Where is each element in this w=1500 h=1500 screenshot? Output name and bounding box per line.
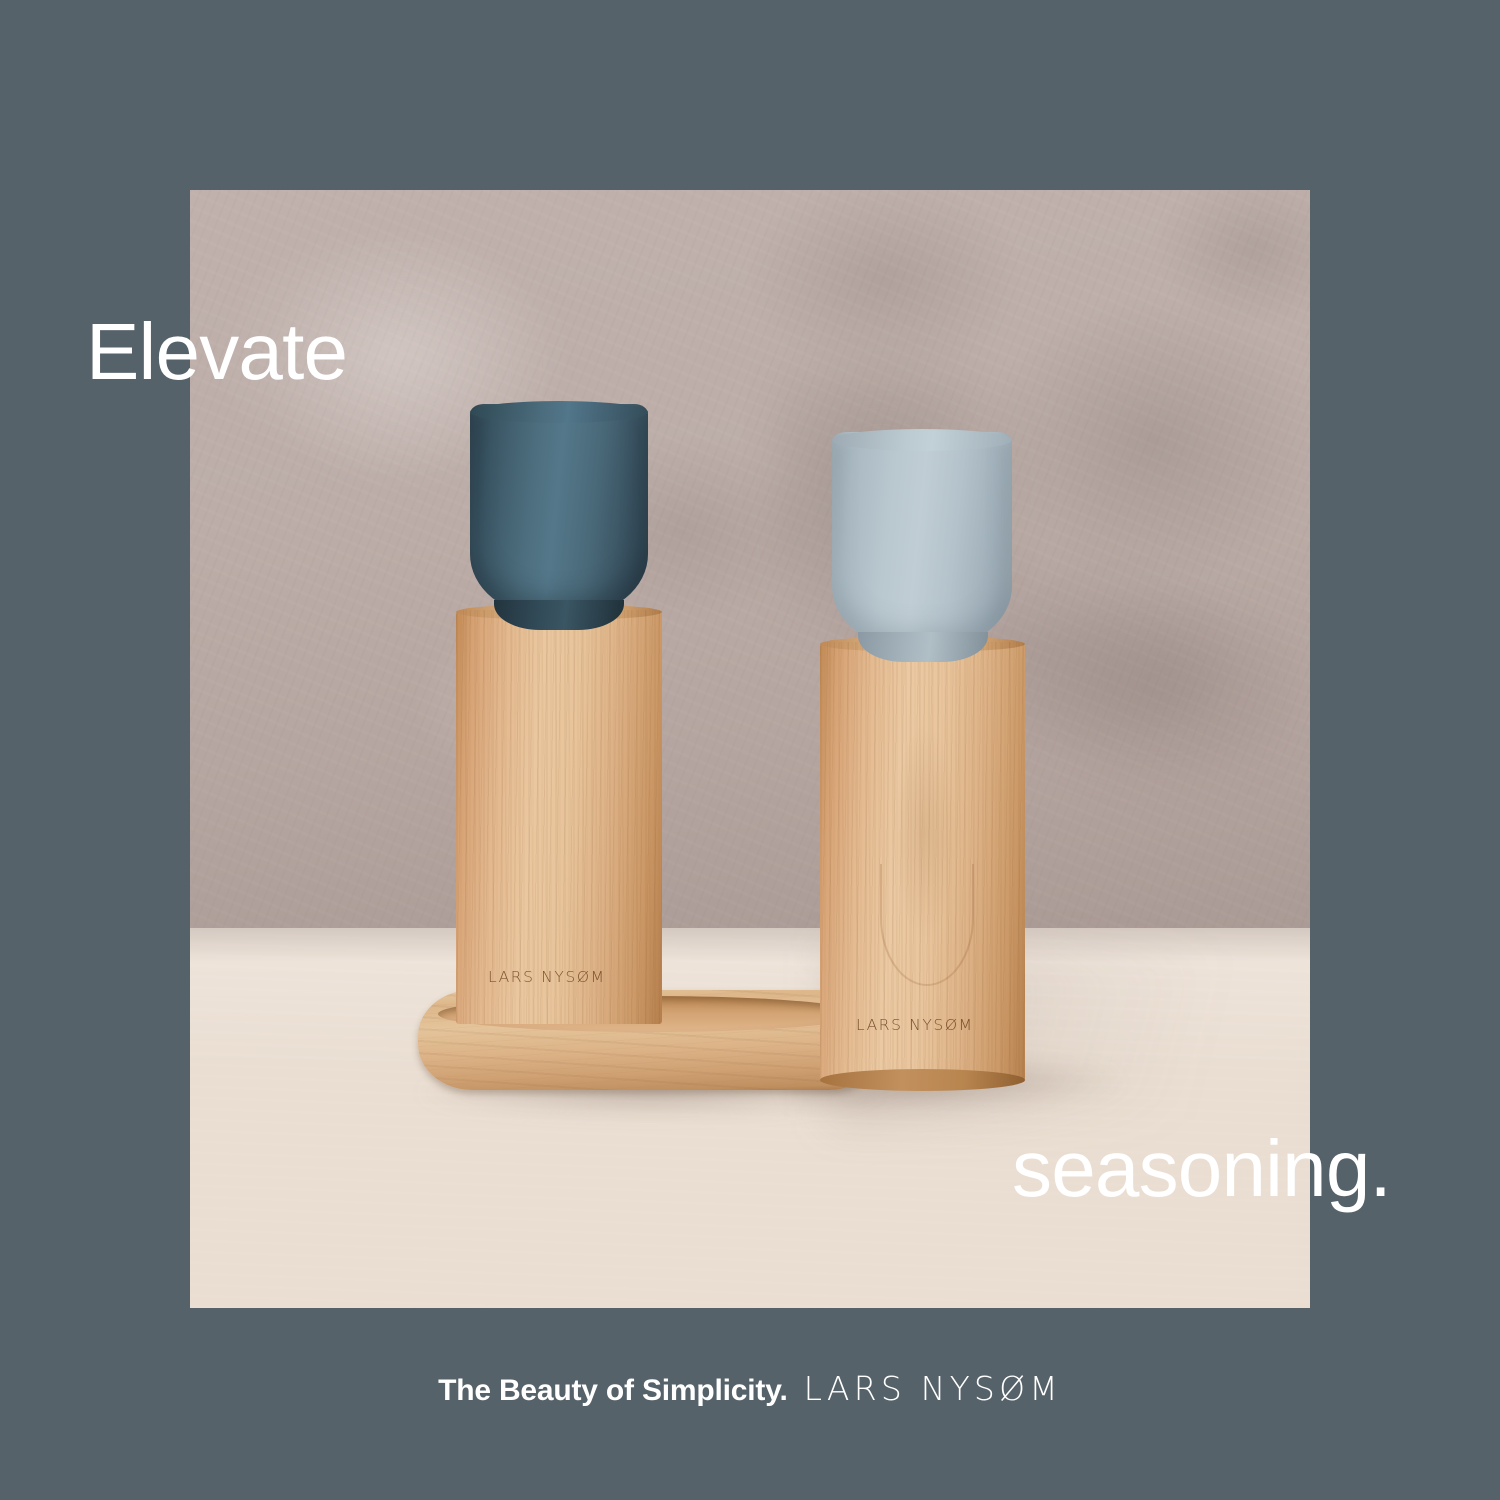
- light-cap-top-ellipse: [832, 429, 1012, 451]
- wood-grain-ticks: [456, 610, 662, 1024]
- dark-cap-top-ellipse: [470, 401, 648, 423]
- footer-tagline: The Beauty of Simplicity.: [438, 1374, 788, 1408]
- salt-grinder-engraving: LARS NYSØM: [856, 1016, 974, 1034]
- footer-tagline-bar: The Beauty of Simplicity. LARS NYSØM: [0, 1369, 1500, 1408]
- pepper-grinder-wood-body: [456, 610, 662, 1024]
- pepper-grinder: LARS NYSØM: [456, 404, 662, 1036]
- wood-body-base: [820, 1069, 1025, 1091]
- headline-line-bottom: seasoning.: [1012, 1129, 1391, 1209]
- light-blue-ceramic-cap: [832, 432, 1012, 648]
- concrete-wall-backdrop: [190, 190, 1310, 928]
- salt-grinder: LARS NYSØM: [820, 432, 1025, 1090]
- advertisement-canvas: LARS NYSØM LARS NYSØM Elevate seasoning.…: [0, 0, 1500, 1500]
- dark-blue-ceramic-cap: [470, 404, 648, 616]
- pepper-grinder-engraving: LARS NYSØM: [488, 968, 606, 986]
- headline-line-top: Elevate: [86, 312, 347, 392]
- wall-smudge: [996, 574, 1310, 794]
- brand-wordmark: LARS NYSØM: [804, 1369, 1062, 1408]
